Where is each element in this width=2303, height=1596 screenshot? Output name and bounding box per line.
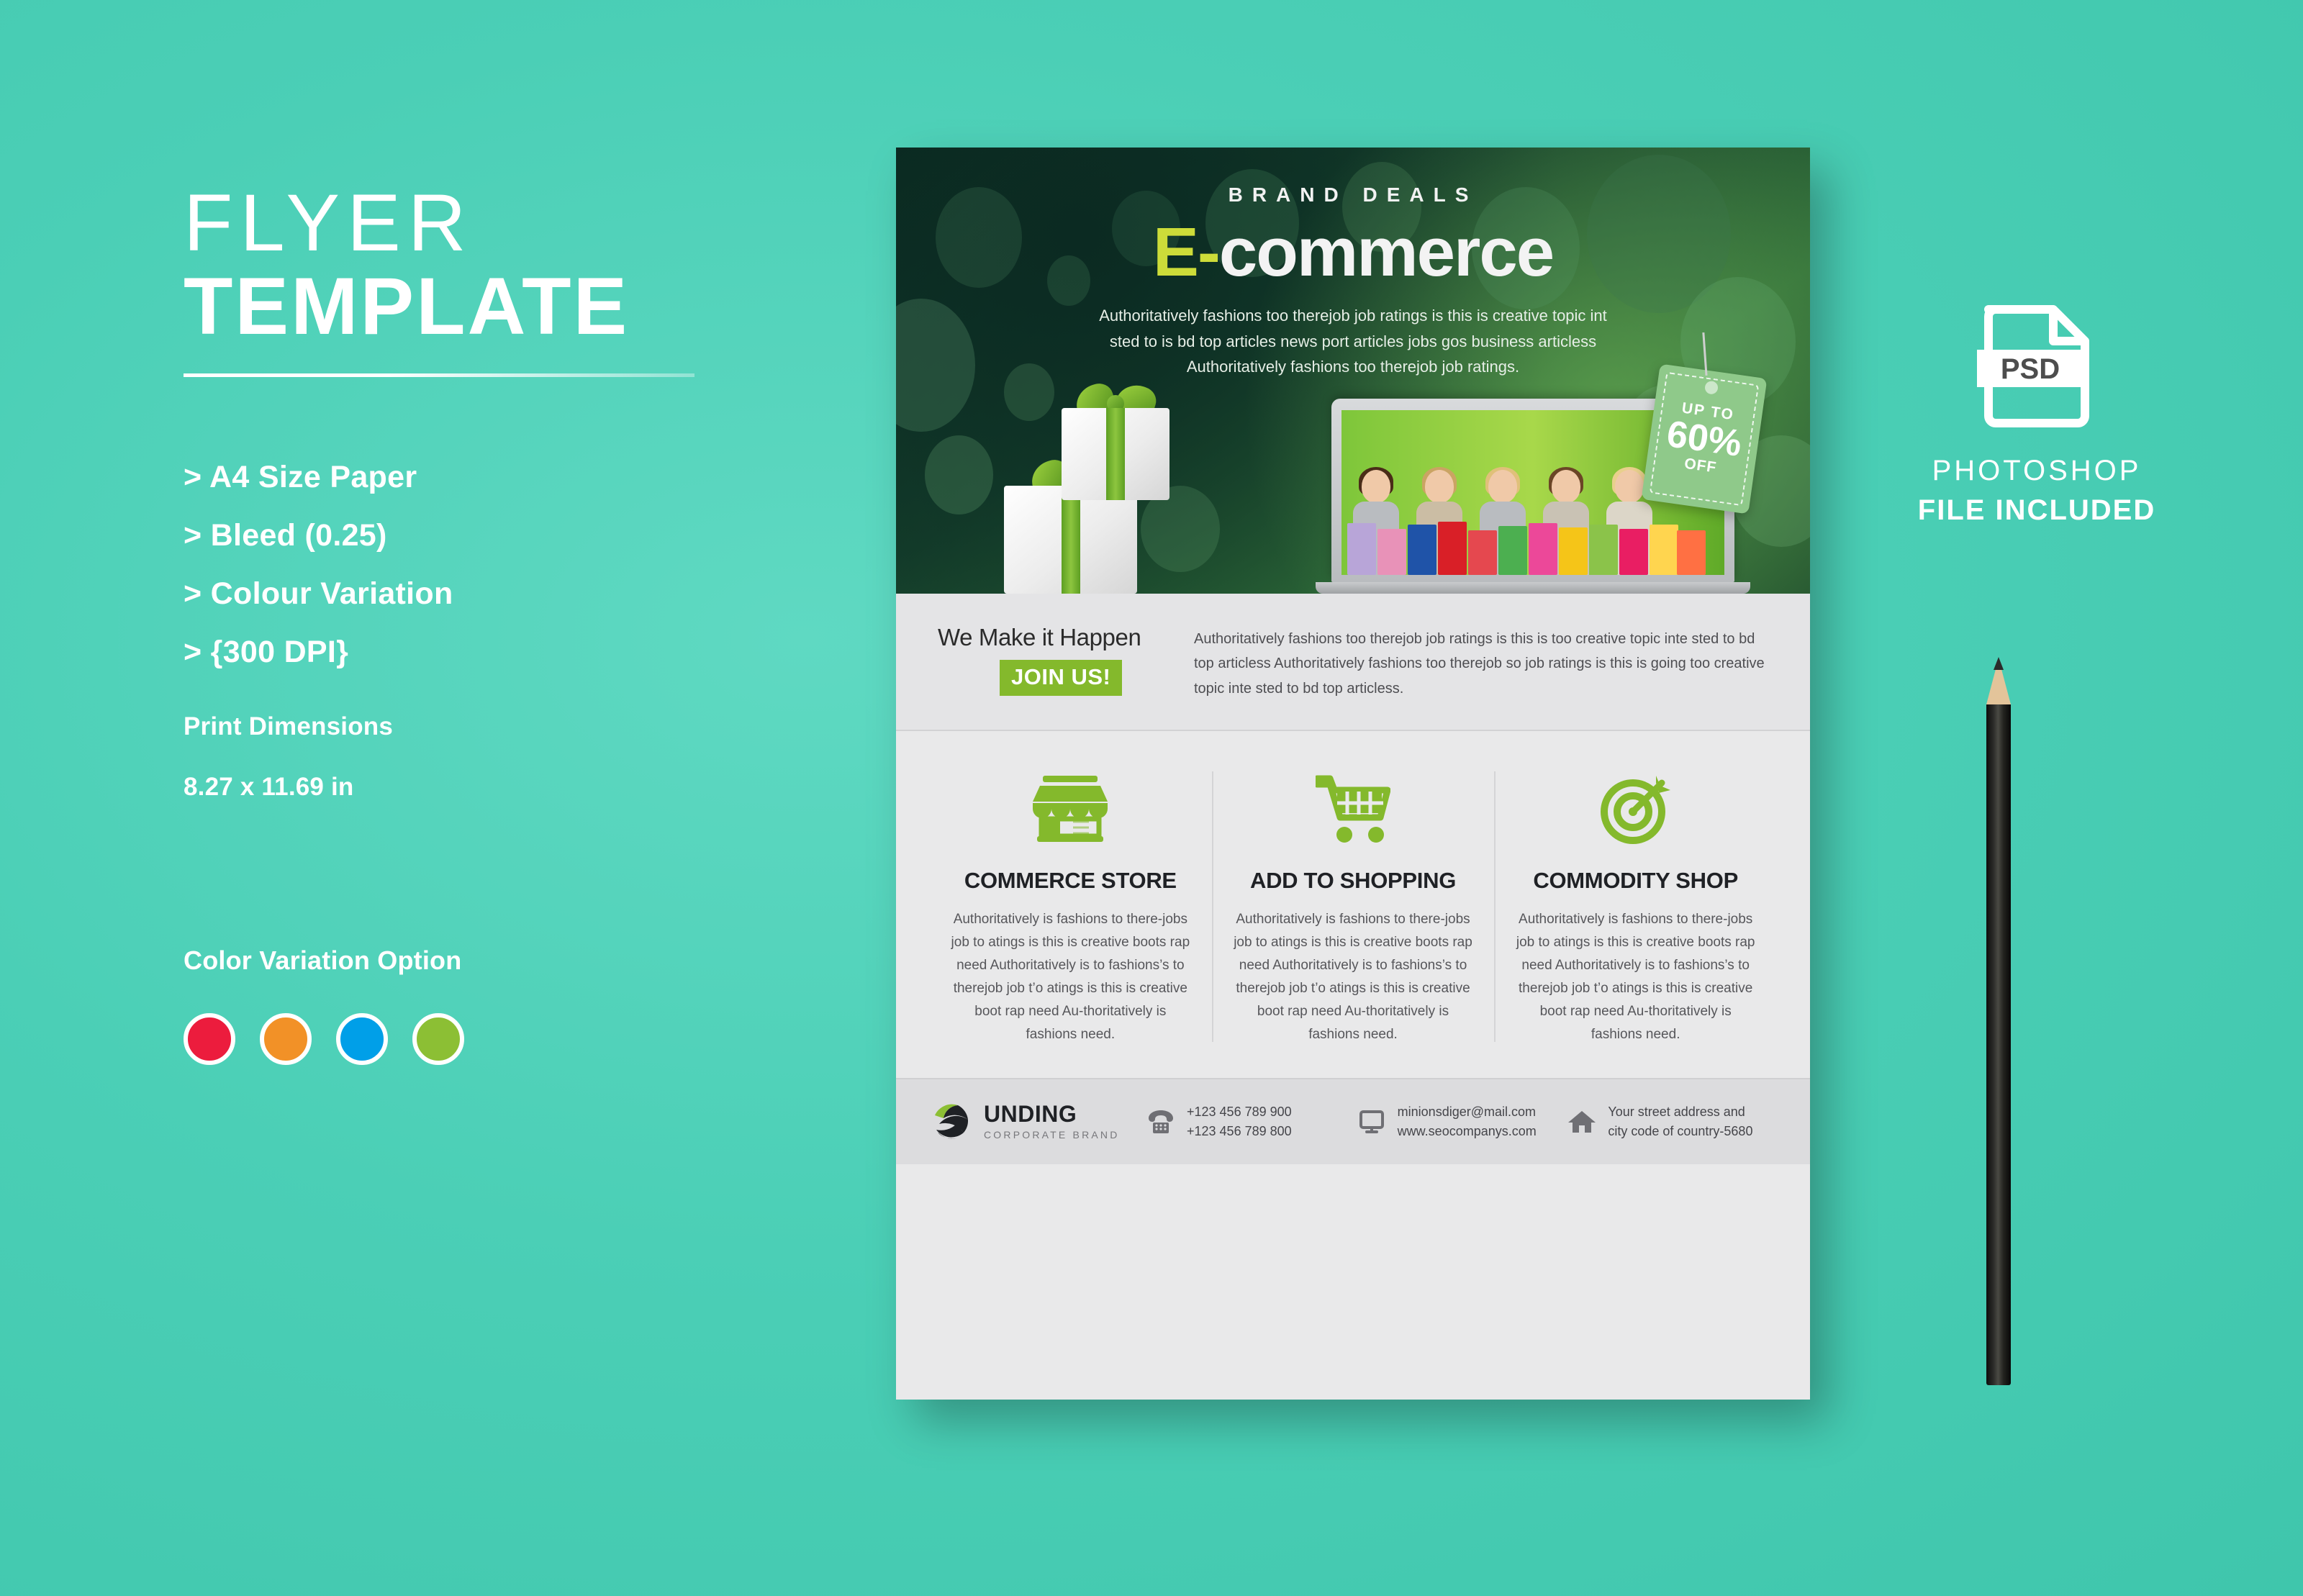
address-lines: Your street address and city code of cou… [1608,1102,1752,1141]
service-body: Authoritatively is fashions to there-job… [1234,908,1473,1046]
page-title-light: FLYER [184,183,745,263]
company-logo: UNDING CORPORATE BRAND [929,1099,1145,1144]
psd-file-label: PSD [2001,353,2060,385]
service-title: COMMERCE STORE [951,868,1190,894]
target-icon [1516,766,1755,852]
hero-paragraph: Authoritatively fashions too therejob jo… [1087,303,1619,380]
service-column-add-to-shopping: ADD TO SHOPPING Authoritatively is fashi… [1212,766,1495,1046]
shopping-cart-icon [1234,766,1473,852]
psd-caption-file-included: FILE INCLUDED [1900,494,2173,527]
pencil-lead [1994,657,2004,670]
join-us-left: We Make it Happen JOIN US! [938,624,1161,696]
join-us-paragraph: Authoritatively fashions too therejob jo… [1194,627,1768,701]
tag-discount-amount: 60% [1665,415,1744,463]
flyer-mockup: BRAND DEALS E-commerce Authoritatively f… [896,148,1810,1400]
join-us-heading: We Make it Happen [938,624,1161,651]
hero-headline-accent: E- [1153,214,1219,291]
logo-text-block: UNDING CORPORATE BRAND [984,1102,1120,1141]
web-lines: minionsdiger@mail.com www.seocompanys.co… [1398,1102,1537,1141]
gift-box-back [1062,408,1169,500]
print-dimensions-value: 8.27 x 11.69 in [184,773,745,802]
psd-caption-photoshop: PHOTOSHOP [1900,455,2173,487]
print-dimensions-block: Print Dimensions 8.27 x 11.69 in [184,712,745,802]
service-column-commerce-store: COMMERCE STORE Authoritatively is fashio… [929,766,1212,1046]
color-swatch-blue[interactable] [336,1013,388,1065]
phone-lines: +123 456 789 900 +123 456 789 800 [1187,1102,1292,1141]
left-info-panel: FLYER TEMPLATE > A4 Size Paper > Bleed (… [184,183,745,1065]
psd-badge: PSD PHOTOSHOP FILE INCLUDED [1900,302,2173,527]
title-divider [184,373,694,377]
hero-product-scene: UP TO 60% OFF [896,349,1810,594]
tag-off-label: OFF [1683,455,1718,477]
flyer-footer: UNDING CORPORATE BRAND +123 456 789 900 … [896,1078,1810,1164]
hero-text-block: BRAND DEALS E-commerce Authoritatively f… [896,148,1810,380]
email-address: minionsdiger@mail.com [1398,1102,1537,1122]
tag-hole [1704,381,1719,395]
shopping-bags [1341,520,1724,575]
feature-list: > A4 Size Paper > Bleed (0.25) > Colour … [184,462,745,668]
hero-headline: E-commerce [896,218,1810,287]
gift-box-front [1004,486,1137,594]
feature-item-dpi: > {300 DPI} [184,637,745,668]
color-swatch-green[interactable] [412,1013,464,1065]
globe-logo-icon [929,1099,974,1144]
color-swatch-row [184,1013,745,1065]
join-us-strip: We Make it Happen JOIN US! Authoritative… [896,594,1810,731]
pencil-body [1986,704,2011,1385]
contact-web: minionsdiger@mail.com www.seocompanys.co… [1356,1102,1567,1141]
services-section: COMMERCE STORE Authoritatively is fashio… [896,731,1810,1077]
monitor-icon [1356,1110,1388,1134]
hero-headline-rest: commerce [1219,214,1553,291]
contact-address: Your street address and city code of cou… [1566,1102,1777,1141]
address-line-1: Your street address and [1608,1102,1752,1122]
service-body: Authoritatively is fashions to there-job… [1516,908,1755,1046]
print-dimensions-label: Print Dimensions [184,712,745,741]
pencil-prop [1986,658,2011,1385]
service-title: COMMODITY SHOP [1516,868,1755,894]
flyer-hero: BRAND DEALS E-commerce Authoritatively f… [896,148,1810,594]
psd-file-icon: PSD [1900,302,2173,430]
gift-box-body [1062,408,1169,500]
laptop-base [1316,582,1751,594]
service-column-commodity-shop: COMMODITY SHOP Authoritatively is fashio… [1494,766,1777,1046]
gift-box-body [1004,486,1137,594]
pencil-tip [1986,658,2011,704]
color-variation-block: Color Variation Option [184,946,745,1065]
address-line-2: city code of country-5680 [1608,1122,1752,1141]
feature-item-a4: > A4 Size Paper [184,462,745,493]
website-url: www.seocompanys.com [1398,1122,1537,1141]
discount-price-tag: UP TO 60% OFF [1642,363,1768,514]
logo-company-name: UNDING [984,1102,1120,1125]
phone-number-2: +123 456 789 800 [1187,1122,1292,1141]
feature-item-bleed: > Bleed (0.25) [184,520,745,551]
color-swatch-red[interactable] [184,1013,235,1065]
contact-phone: +123 456 789 900 +123 456 789 800 [1145,1102,1356,1141]
home-icon [1566,1110,1598,1134]
feature-item-colour-variation: > Colour Variation [184,579,745,609]
phone-icon [1145,1110,1177,1134]
service-title: ADD TO SHOPPING [1234,868,1473,894]
service-body: Authoritatively is fashions to there-job… [951,908,1190,1046]
hero-eyebrow: BRAND DEALS [896,183,1810,207]
logo-tagline: CORPORATE BRAND [984,1129,1120,1141]
phone-number-1: +123 456 789 900 [1187,1102,1292,1122]
join-us-button[interactable]: JOIN US! [1000,660,1122,696]
page-title-bold: TEMPLATE [184,266,745,348]
storefront-icon [951,766,1190,852]
color-swatch-orange[interactable] [260,1013,312,1065]
color-variation-label: Color Variation Option [184,946,745,976]
